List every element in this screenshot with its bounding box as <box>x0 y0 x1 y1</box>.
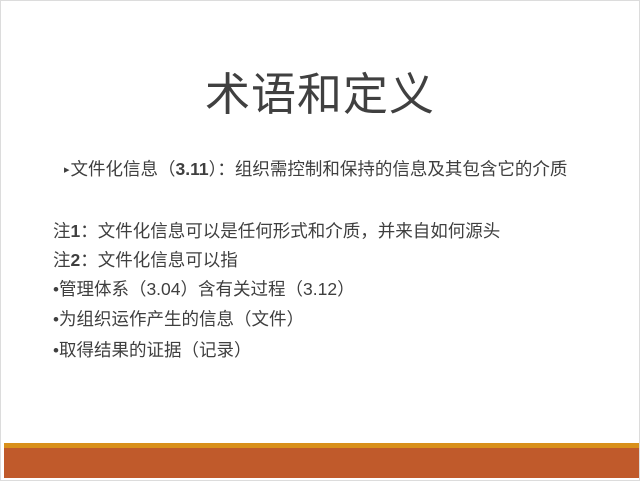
sub-bullet-item: •取得结果的证据（记录） <box>53 342 609 360</box>
definition-clause-ref: 3.11 <box>176 159 209 179</box>
note-label-prefix: 注 <box>53 250 71 270</box>
presentation-slide: 术语和定义 ▸文件化信息（3.11）：组织需控制和保持的信息及其包含它的介质 注… <box>0 0 640 481</box>
definition-bullet: ▸文件化信息（3.11）：组织需控制和保持的信息及其包含它的介质 <box>53 161 609 179</box>
note-label-number: 2 <box>71 250 81 270</box>
content-spacer <box>53 179 609 223</box>
note-text: 文件化信息可以指 <box>98 250 238 270</box>
sub-bullet-text: 管理体系（3.04）含有关过程（3.12） <box>59 279 355 299</box>
note-label-number: 1 <box>71 221 81 241</box>
note-colon: ： <box>80 250 98 270</box>
definition-colon: ： <box>217 159 235 179</box>
accent-bar-rust <box>4 448 639 478</box>
note-line: 注2：文件化信息可以指 <box>53 252 609 270</box>
triangle-right-bullet-icon: ▸ <box>64 165 70 176</box>
sub-bullet-item: •管理体系（3.04）含有关过程（3.12） <box>53 281 609 299</box>
note-line: 注1：文件化信息可以是任何形式和介质，并来自如何源头 <box>53 223 609 241</box>
note-colon: ： <box>80 221 98 241</box>
note-label-prefix: 注 <box>53 221 71 241</box>
definition-open-paren: （ <box>158 159 176 179</box>
definition-term: 文件化信息 <box>71 159 159 179</box>
slide-footer-decoration <box>4 443 639 478</box>
sub-bullet-text: 取得结果的证据（记录） <box>59 340 252 360</box>
sub-bullet-item: •为组织运作产生的信息（文件） <box>53 311 609 329</box>
definition-text: 组织需控制和保持的信息及其包含它的介质 <box>235 159 568 179</box>
slide-body: ▸文件化信息（3.11）：组织需控制和保持的信息及其包含它的介质 注1：文件化信… <box>53 161 609 359</box>
sub-bullet-text: 为组织运作产生的信息（文件） <box>59 309 304 329</box>
page-title: 术语和定义 <box>1 69 639 121</box>
note-text: 文件化信息可以是任何形式和介质，并来自如何源头 <box>98 221 501 241</box>
